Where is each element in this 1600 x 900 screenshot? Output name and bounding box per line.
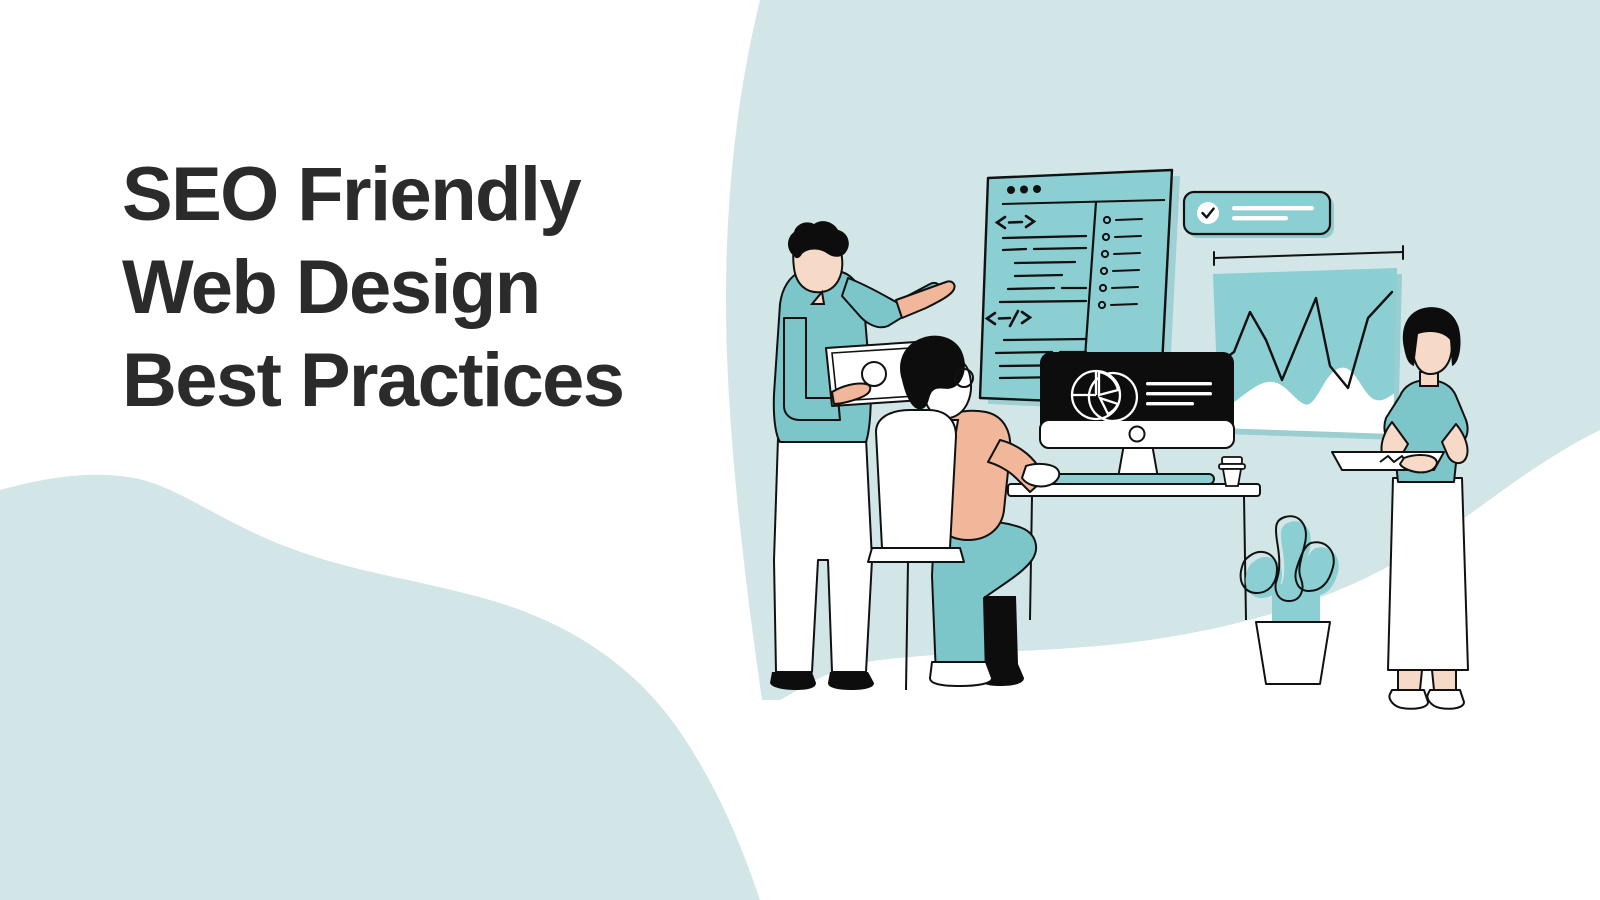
check-circle-icon [1197,202,1219,224]
tray-person-skirt [1388,478,1468,670]
standing-person-shoe-left [770,672,816,690]
seated-person-hand [1022,464,1059,487]
tray-person-shoe-right [1428,690,1465,709]
monitor-logo-icon [1130,427,1145,442]
poster-canvas: SEO Friendly Web Design Best Practices [0,0,1600,900]
keyboard[interactable] [1044,474,1214,484]
tray-person-shoe-left [1390,690,1429,709]
analytics-chart-panel [1212,246,1403,440]
plant-pot [1256,622,1330,684]
seated-person-shoe-front [930,662,992,686]
success-notification-card[interactable] [1184,192,1334,238]
seated-person-sock [984,596,1018,664]
tablet-home-button-icon [862,362,886,386]
chair-seat [868,548,964,562]
standing-person-shoe-right [828,672,874,690]
chair-backrest [876,410,956,548]
illustration-scene [0,0,1600,900]
notification-line-2 [1232,216,1288,220]
monitor-stand [1118,444,1158,478]
window-control-dots[interactable] [1007,185,1041,194]
notification-line-1 [1232,206,1314,210]
